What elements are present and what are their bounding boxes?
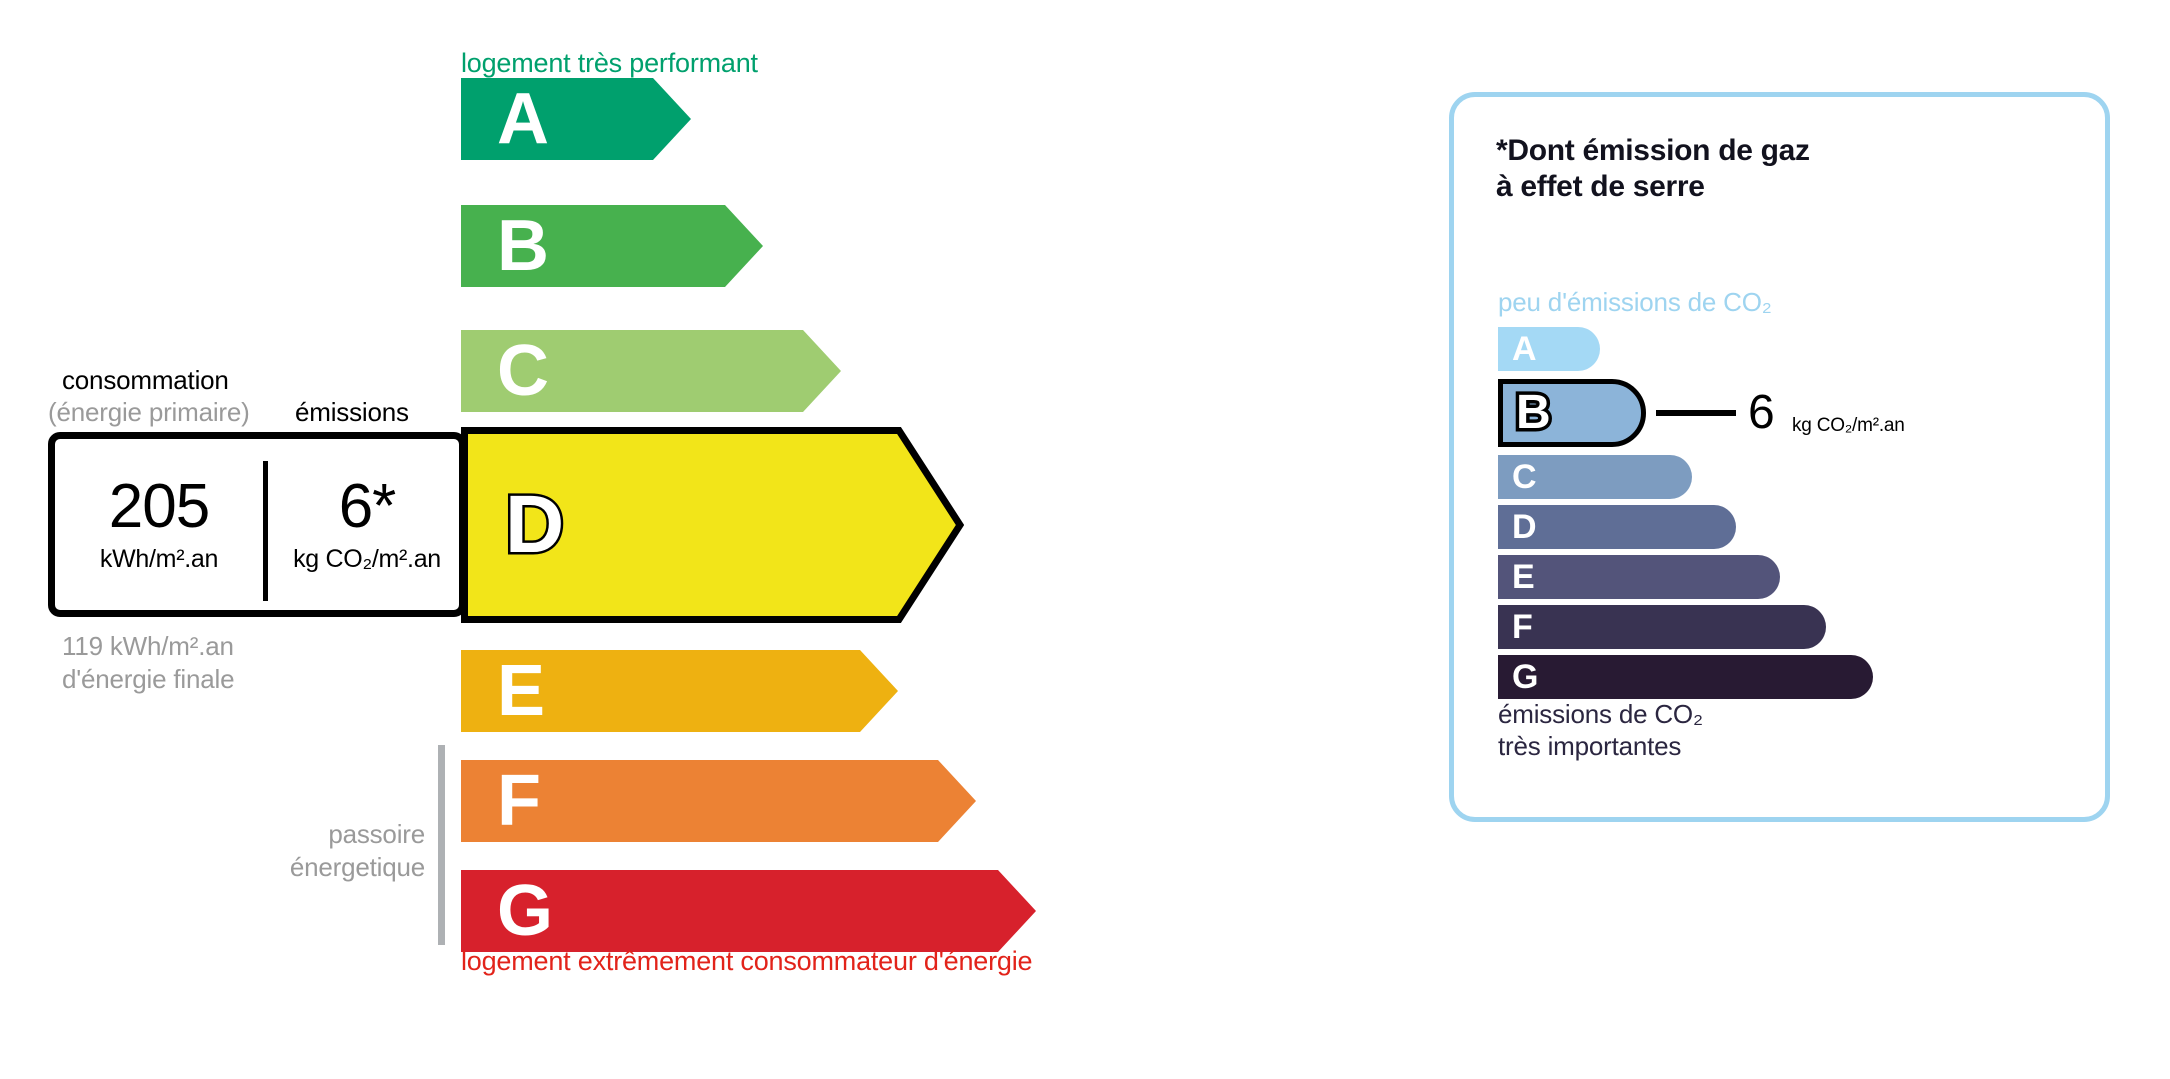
energy-band-a: A xyxy=(461,78,691,160)
co2-emissions-panel: *Dont émission de gaz à effet de serre p… xyxy=(1449,92,2110,822)
co2-bar-g-letter: G xyxy=(1512,660,1538,694)
co2-value: 6 xyxy=(1748,389,1774,437)
co2-title-line2: à effet de serre xyxy=(1496,169,1810,205)
co2-bar-g-fill xyxy=(1498,655,1873,699)
co2-top-caption: peu d'émissions de CO₂ xyxy=(1498,287,1772,318)
emissions-label: émissions xyxy=(295,397,409,428)
co2-bar-g: G xyxy=(1498,655,1873,699)
energy-band-a-letter: A xyxy=(497,83,549,155)
co2-bar-f-fill xyxy=(1498,605,1826,649)
consumption-value: 205 xyxy=(109,476,209,538)
emission-unit: kg CO₂/m².an xyxy=(293,545,441,574)
emission-value-cell: 6* kg CO₂/m².an xyxy=(268,439,466,610)
co2-bar-c-letter: C xyxy=(1512,460,1537,494)
passoire-label: passoire énergetique xyxy=(190,818,425,885)
passoire-line2: énergetique xyxy=(190,851,425,884)
energy-band-e-letter: E xyxy=(497,655,545,727)
co2-bar-a-letter: A xyxy=(1512,332,1537,366)
co2-bar-c: C xyxy=(1498,455,1692,499)
co2-bar-e-fill xyxy=(1498,555,1780,599)
co2-bar-b-current: B xyxy=(1498,379,1646,447)
co2-bar-f-letter: F xyxy=(1512,610,1533,644)
energy-band-b: B xyxy=(461,205,763,287)
co2-bar-d-letter: D xyxy=(1512,510,1537,544)
energy-band-e: E xyxy=(461,650,898,732)
co2-unit: kg CO₂/m².an xyxy=(1792,415,1905,437)
co2-leader-line xyxy=(1656,410,1736,416)
consumption-sublabel: (énergie primaire) xyxy=(48,397,250,428)
energy-band-g: G xyxy=(461,870,1036,952)
co2-title-line1: *Dont émission de gaz xyxy=(1496,133,1810,169)
energy-band-c-letter: C xyxy=(497,335,549,407)
co2-bottom-caption-line2: très importantes xyxy=(1498,731,1703,763)
co2-bar-e: E xyxy=(1498,555,1780,599)
passoire-bracket xyxy=(438,745,445,945)
consumption-label: consommation xyxy=(62,365,229,396)
co2-bar-a: A xyxy=(1498,327,1600,371)
emission-value: 6* xyxy=(339,476,396,538)
energy-band-f-letter: F xyxy=(497,765,541,837)
energy-scale-top-caption: logement très performant xyxy=(461,48,758,79)
energy-band-d-current: D xyxy=(461,427,964,623)
co2-panel-title: *Dont émission de gaz à effet de serre xyxy=(1496,133,1810,205)
value-box: 205 kWh/m².an 6* kg CO₂/m².an xyxy=(48,432,466,617)
energy-band-b-letter: B xyxy=(497,210,549,282)
co2-bar-d: D xyxy=(1498,505,1736,549)
consumption-value-cell: 205 kWh/m².an xyxy=(55,439,263,610)
final-energy-note: 119 kWh/m².an d'énergie finale xyxy=(62,630,234,697)
co2-bottom-caption: émissions de CO₂ très importantes xyxy=(1498,699,1703,762)
energy-band-d-letter: D xyxy=(505,484,564,566)
co2-bar-e-letter: E xyxy=(1512,560,1535,594)
energy-scale-bottom-caption: logement extrêmement consommateur d'éner… xyxy=(461,946,1032,977)
final-energy-line1: 119 kWh/m².an xyxy=(62,630,234,663)
passoire-line1: passoire xyxy=(190,818,425,851)
co2-bar-b-letter: B xyxy=(1516,389,1551,437)
energy-performance-scale: logement très performant A B C xyxy=(0,0,1400,1079)
energy-band-g-letter: G xyxy=(497,875,553,947)
consumption-unit: kWh/m².an xyxy=(100,545,218,574)
energy-band-f: F xyxy=(461,760,976,842)
co2-bottom-caption-line1: émissions de CO₂ xyxy=(1498,699,1703,731)
co2-bar-f: F xyxy=(1498,605,1826,649)
energy-band-c: C xyxy=(461,330,841,412)
final-energy-line2: d'énergie finale xyxy=(62,663,234,696)
